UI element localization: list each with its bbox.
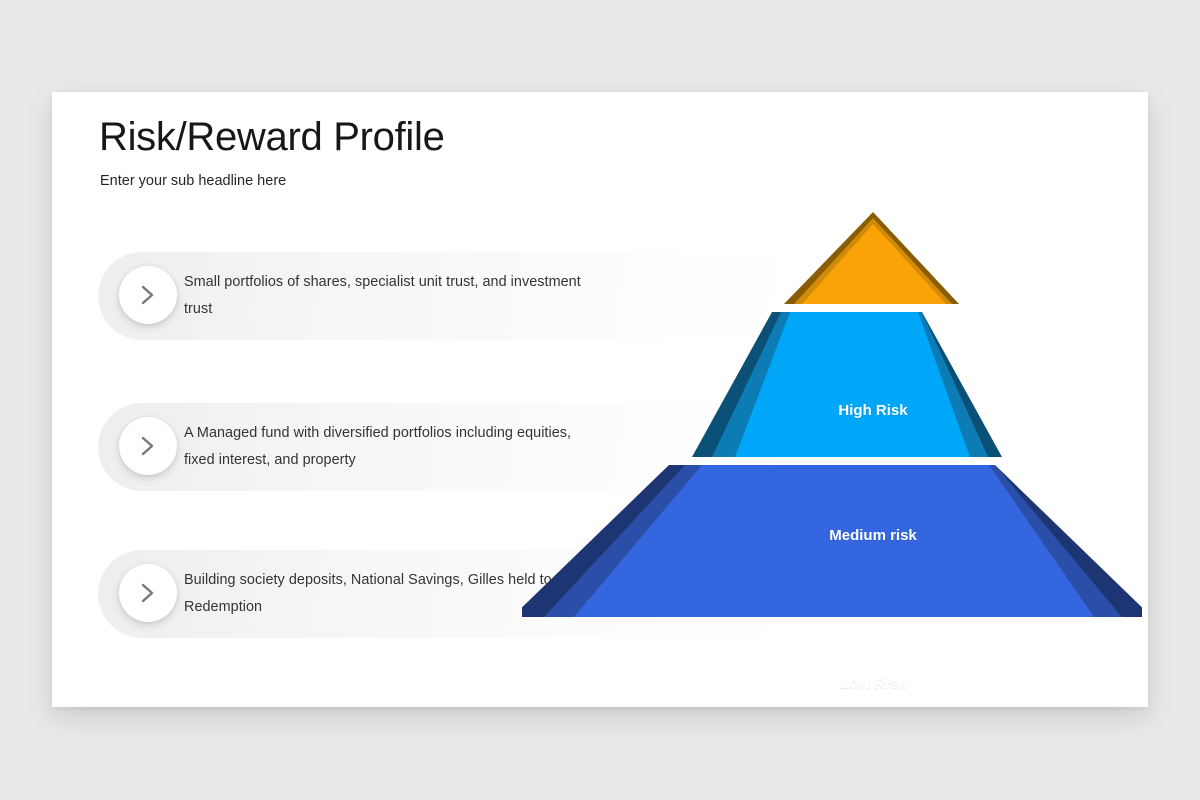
pyramid-tier-medium <box>692 312 1002 457</box>
list-item-badge[interactable] <box>119 417 177 475</box>
chevron-right-icon <box>139 284 157 306</box>
pyramid-label-medium: Medium risk <box>829 527 917 544</box>
list-item-badge[interactable] <box>119 266 177 324</box>
list-item-badge[interactable] <box>119 564 177 622</box>
page-title: Risk/Reward Profile <box>99 115 445 160</box>
chevron-right-icon <box>139 435 157 457</box>
pyramid-label-low: Low Risk <box>840 675 906 692</box>
pyramid-label-high: High Risk <box>838 402 907 419</box>
chevron-right-icon <box>139 582 157 604</box>
pyramid-tier-high <box>784 212 959 304</box>
risk-pyramid-diagram: High Risk Medium risk Low Risk <box>522 212 1142 672</box>
slide-card: Risk/Reward Profile Enter your sub headl… <box>52 92 1148 707</box>
page-subtitle: Enter your sub headline here <box>100 173 286 189</box>
